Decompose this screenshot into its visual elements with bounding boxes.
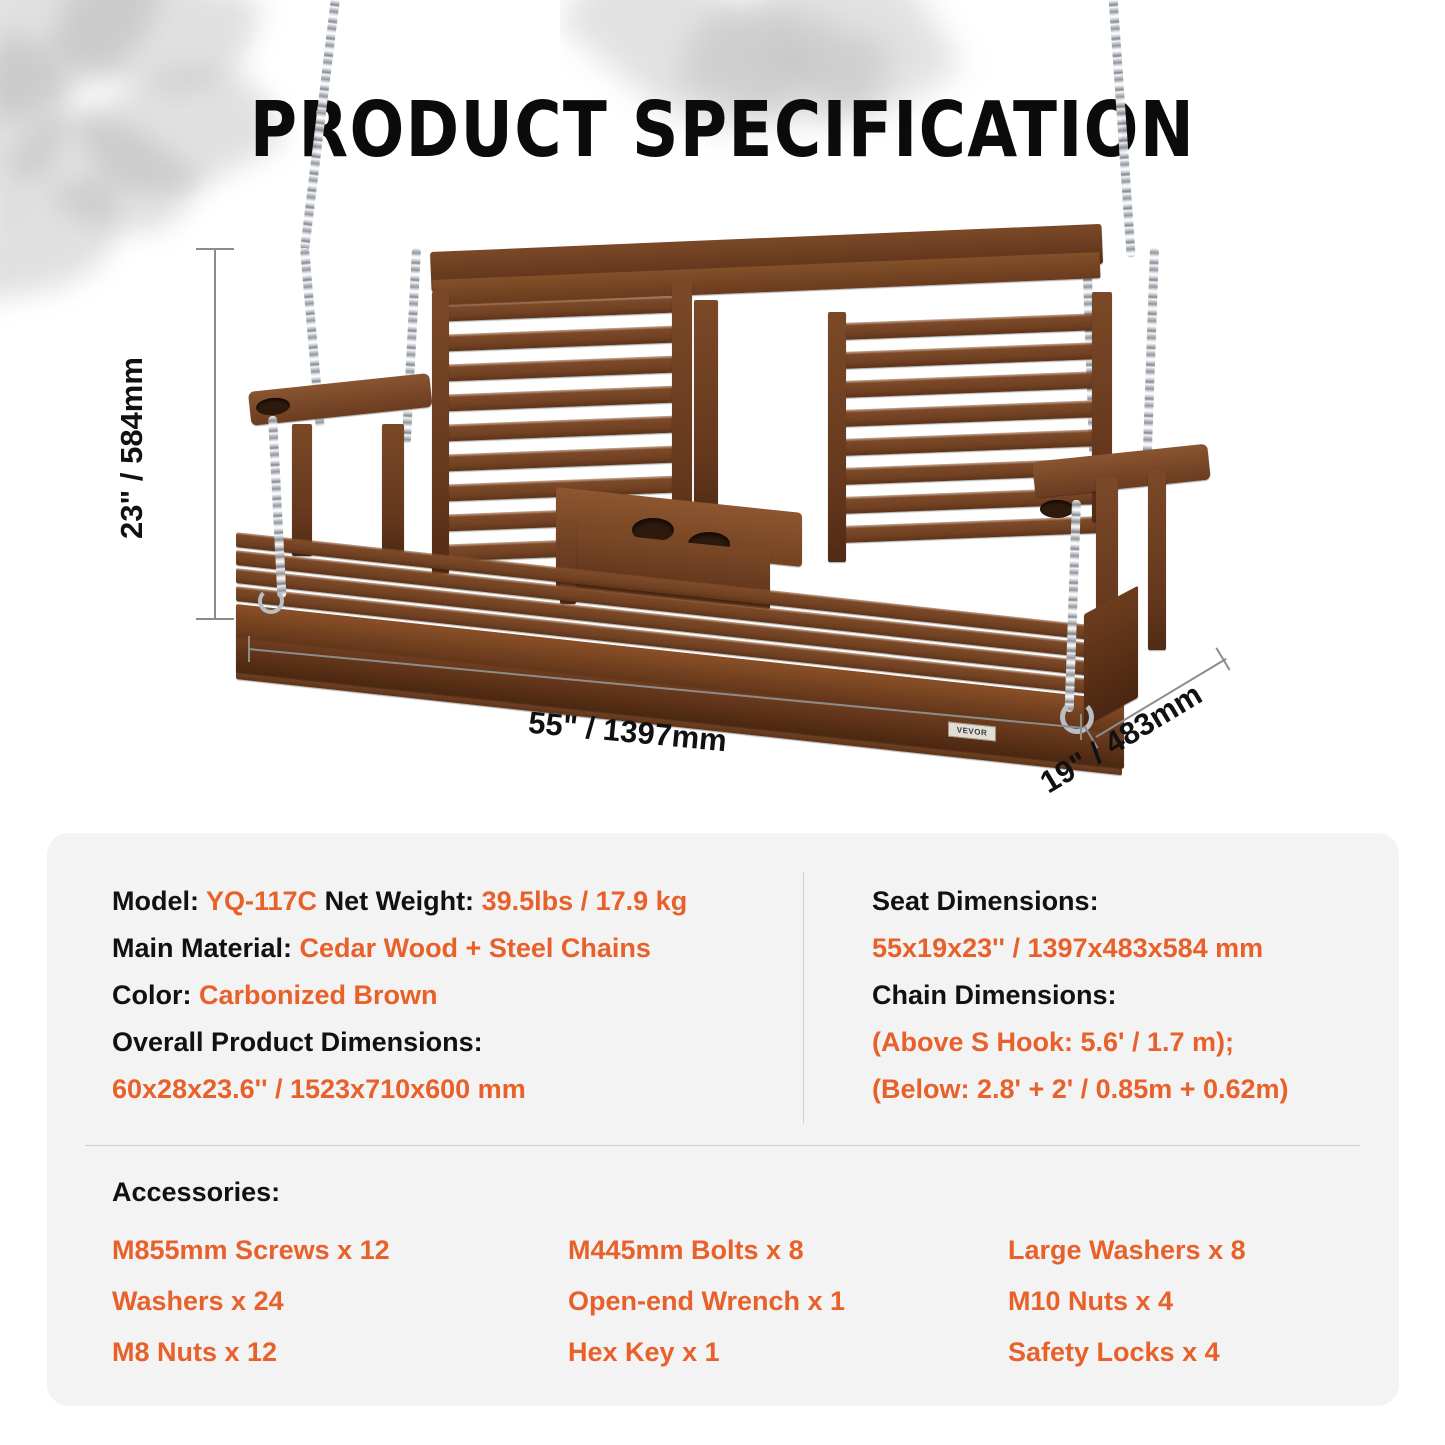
spec-row: Model: YQ-117C Net Weight: 39.5lbs / 17.… <box>112 878 792 925</box>
column-divider <box>803 872 804 1124</box>
spec-row: 60x28x23.6'' / 1523x710x600 mm <box>112 1066 792 1113</box>
accessories-column-2: M445mm Bolts x 8Open-end Wrench x 1Hex K… <box>568 1225 845 1378</box>
accessory-item: Washers x 24 <box>112 1276 390 1327</box>
spec-value: YQ-117C <box>206 886 317 916</box>
s-hook-right-icon <box>1060 700 1094 734</box>
spec-column-right: Seat Dimensions:55x19x23'' / 1397x483x58… <box>872 878 1342 1113</box>
spec-value: Carbonized Brown <box>199 980 438 1010</box>
spec-value: Cedar Wood + Steel Chains <box>300 933 651 963</box>
armrest-left-support-front <box>292 424 312 556</box>
accessory-item: Large Washers x 8 <box>1008 1225 1246 1276</box>
dim-depth-cap-far <box>1215 647 1230 670</box>
spec-key: Color: <box>112 980 199 1010</box>
spec-key: Net Weight: <box>317 886 482 916</box>
spec-row: 55x19x23'' / 1397x483x584 mm <box>872 925 1342 972</box>
seat-right-side-panel <box>1084 586 1138 727</box>
spec-row: (Below: 2.8' + 2' / 0.85m + 0.62m) <box>872 1066 1342 1113</box>
spec-key: Seat Dimensions: <box>872 886 1099 916</box>
backrest-right-stile <box>828 312 846 562</box>
armrest-right-support-2 <box>1148 470 1166 650</box>
accessory-item: M10 Nuts x 4 <box>1008 1276 1246 1327</box>
spec-key: Main Material: <box>112 933 300 963</box>
dim-width-cap-right <box>1080 714 1082 740</box>
dim-height-cap-bottom <box>196 618 234 620</box>
dim-height-cap-top <box>196 248 234 250</box>
spec-row: Main Material: Cedar Wood + Steel Chains <box>112 925 792 972</box>
spec-row: Overall Product Dimensions: <box>112 1019 792 1066</box>
dim-height-label: 23" / 584mm <box>114 313 150 583</box>
spec-key: Model: <box>112 886 206 916</box>
accessories-title: Accessories: <box>112 1177 280 1208</box>
spec-key: Chain Dimensions: <box>872 980 1117 1010</box>
spec-value: 60x28x23.6'' / 1523x710x600 mm <box>112 1074 526 1104</box>
spec-column-left: Model: YQ-117C Net Weight: 39.5lbs / 17.… <box>112 878 792 1113</box>
section-divider <box>85 1145 1360 1146</box>
chain-upper-left <box>300 0 341 251</box>
chain-upper-right-3 <box>1143 248 1159 454</box>
armrest-right-cupholder-icon <box>1040 500 1074 518</box>
s-hook-left-icon <box>258 588 284 614</box>
chain-upper-right <box>1108 0 1136 258</box>
spec-row: Color: Carbonized Brown <box>112 972 792 1019</box>
dim-height-line <box>214 248 216 620</box>
accessory-item: Open-end Wrench x 1 <box>568 1276 845 1327</box>
product-photo: VEVOR 23" / 584mm 55" / 1397mm 19" / 483… <box>0 0 1445 812</box>
backrest-right <box>840 318 1102 568</box>
product-specification-page: PRODUCT SPECIFICATION <box>0 0 1445 1445</box>
armrest-left-support-back <box>382 424 404 554</box>
spec-value: (Above S Hook: 5.6' / 1.7 m); <box>872 1027 1234 1057</box>
center-post <box>694 300 718 522</box>
spec-row: Seat Dimensions: <box>872 878 1342 925</box>
chain-upper-left-3 <box>402 248 421 444</box>
spec-row: Chain Dimensions: <box>872 972 1342 1019</box>
spec-value: (Below: 2.8' + 2' / 0.85m + 0.62m) <box>872 1074 1289 1104</box>
accessory-item: M445mm Bolts x 8 <box>568 1225 845 1276</box>
spec-row: (Above S Hook: 5.6' / 1.7 m); <box>872 1019 1342 1066</box>
accessory-item: Hex Key x 1 <box>568 1327 845 1378</box>
accessory-item: Safety Locks x 4 <box>1008 1327 1246 1378</box>
dim-width-cap-left <box>248 636 250 662</box>
spec-key: Overall Product Dimensions: <box>112 1027 483 1057</box>
accessories-column-1: M855mm Screws x 12Washers x 24M8 Nuts x … <box>112 1225 390 1378</box>
spec-value: 55x19x23'' / 1397x483x584 mm <box>872 933 1263 963</box>
spec-value: 39.5lbs / 17.9 kg <box>482 886 688 916</box>
backrest-left-stile <box>432 292 449 574</box>
accessory-item: M8 Nuts x 12 <box>112 1327 390 1378</box>
accessories-column-3: Large Washers x 8M10 Nuts x 4Safety Lock… <box>1008 1225 1246 1378</box>
accessory-item: M855mm Screws x 12 <box>112 1225 390 1276</box>
